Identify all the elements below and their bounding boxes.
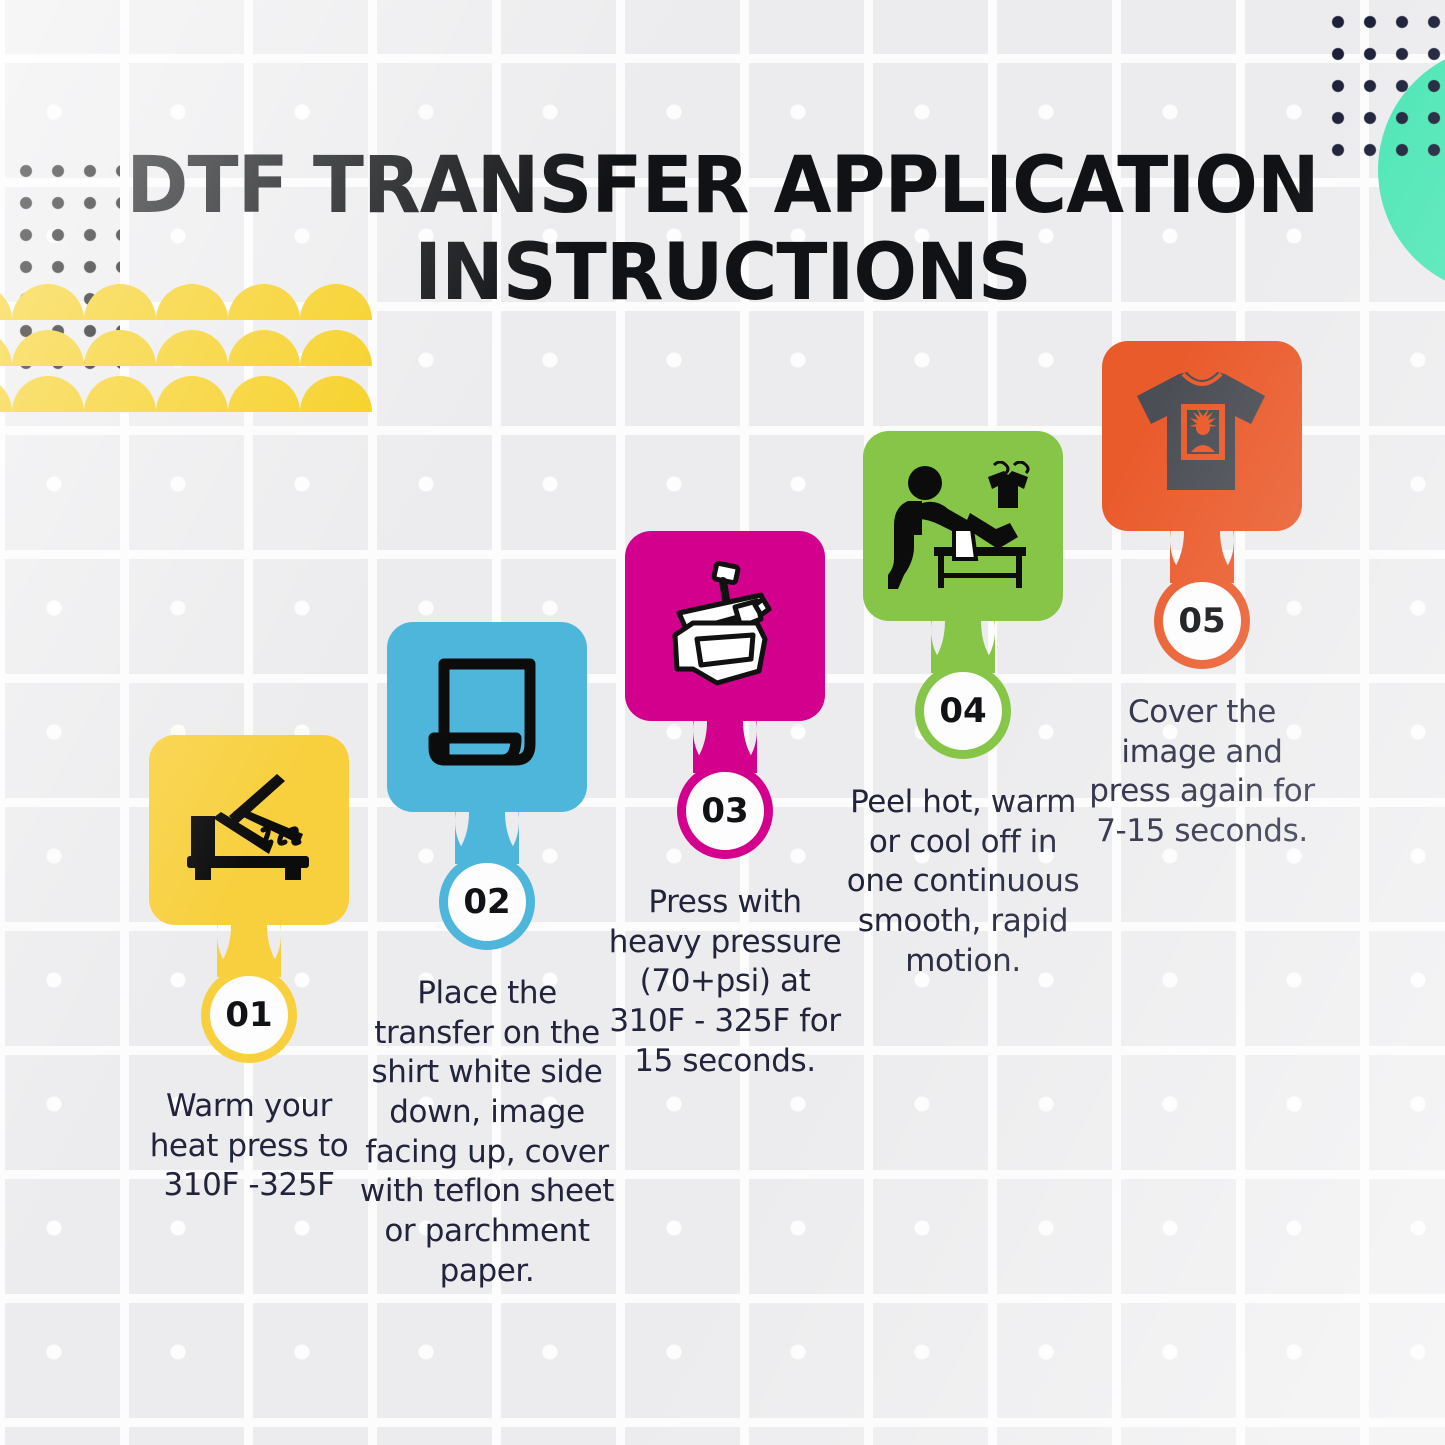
person-pressing-shirt-icon	[888, 461, 1038, 591]
step-item-02[interactable]: 02 Place the transfer on the shirt white…	[363, 622, 611, 812]
step-number-01: 01	[225, 995, 272, 1035]
step-card-02	[387, 622, 587, 812]
step-caption-02: Place the transfer on the shirt white si…	[359, 974, 615, 1291]
step-card-04	[863, 431, 1063, 621]
step-item-03[interactable]: 03 Press with heavy pressure (70+psi) at…	[601, 531, 849, 721]
step-card-05	[1102, 341, 1302, 531]
printed-tshirt-icon	[1131, 368, 1273, 504]
step-item-05[interactable]: 05 Cover the image and press again for 7…	[1078, 341, 1326, 531]
step-caption-04: Peel hot, warm or cool off in one contin…	[845, 783, 1081, 981]
step-item-01[interactable]: 01 Warm your heat press to 310F -325F	[125, 735, 373, 925]
step-number-badge-02: 02	[439, 854, 535, 950]
heat-press-open-icon	[181, 772, 317, 888]
step-number-badge-05: 05	[1154, 573, 1250, 669]
step-number-badge-03: 03	[677, 763, 773, 859]
step-caption-05: Cover the image and press again for 7-15…	[1084, 693, 1320, 852]
step-number-03: 03	[701, 791, 748, 831]
step-number-04: 04	[939, 691, 986, 731]
step-caption-01: Warm your heat press to 310F -325F	[131, 1087, 367, 1206]
step-caption-03: Press with heavy pressure (70+psi) at 31…	[607, 883, 843, 1081]
step-number-badge-04: 04	[915, 663, 1011, 759]
transfer-sheet-icon	[428, 656, 546, 778]
step-card-01	[149, 735, 349, 925]
step-number-05: 05	[1178, 601, 1225, 641]
step-item-04[interactable]: 04 Peel hot, warm or cool off in one con…	[839, 431, 1087, 621]
heat-press-machine-icon	[657, 561, 793, 691]
step-number-badge-01: 01	[201, 967, 297, 1063]
step-card-03	[625, 531, 825, 721]
steps-container: 01 Warm your heat press to 310F -325F 02	[0, 0, 1445, 1445]
step-number-02: 02	[463, 882, 510, 922]
